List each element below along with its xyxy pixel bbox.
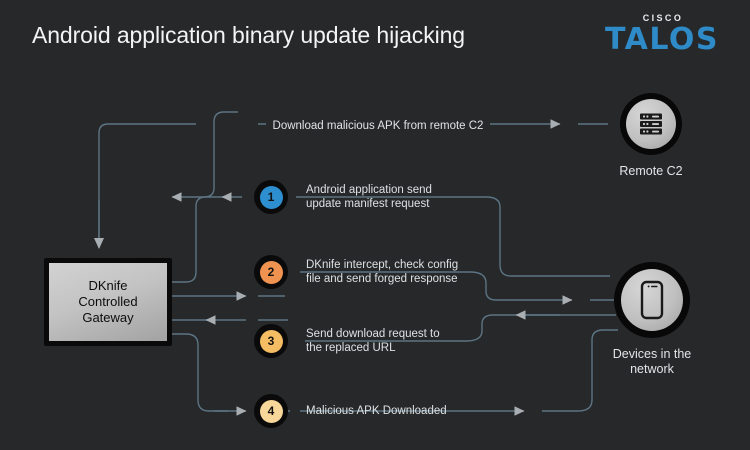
connector-lines — [0, 0, 750, 450]
step-number-1: 1 — [260, 186, 283, 209]
step-text-2: DKnife intercept, check config file and … — [306, 258, 458, 287]
diagram-canvas: Android application binary update hijack… — [0, 0, 750, 450]
step-number-2: 2 — [260, 261, 283, 284]
devices-ring — [614, 262, 690, 338]
remote-c2-face — [626, 99, 676, 149]
devices-node[interactable]: Devices in the network — [610, 262, 694, 377]
step-badge-3: 3 — [254, 324, 288, 358]
gateway-inner: DKnife Controlled Gateway — [49, 263, 167, 341]
server-icon — [636, 109, 666, 139]
remote-c2-node[interactable]: Remote C2 — [614, 93, 688, 179]
remote-c2-caption: Remote C2 — [614, 164, 688, 179]
step-text-1: Android application send update manifest… — [306, 183, 432, 212]
step-badge-4: 4 — [254, 394, 288, 428]
dknife-gateway-node[interactable]: DKnife Controlled Gateway — [44, 258, 172, 346]
remote-c2-ring — [620, 93, 682, 155]
step-number-3: 3 — [260, 330, 283, 353]
step-badge-1: 1 — [254, 180, 288, 214]
flow-step-3[interactable]: 3 Send download request to the replaced … — [254, 324, 440, 358]
flow-step-2[interactable]: 2 DKnife intercept, check config file an… — [254, 255, 458, 289]
step-number-4: 4 — [260, 400, 283, 423]
gateway-label: DKnife Controlled Gateway — [78, 278, 137, 326]
smartphone-icon — [639, 280, 665, 320]
step-text-4: Malicious APK Downloaded — [306, 404, 447, 419]
step-text-3: Send download request to the replaced UR… — [306, 327, 440, 356]
step-badge-2: 2 — [254, 255, 288, 289]
devices-face — [621, 269, 683, 331]
flow-step-4[interactable]: 4 Malicious APK Downloaded — [254, 394, 447, 428]
flow-step-1[interactable]: 1 Android application send update manife… — [254, 180, 432, 214]
devices-caption: Devices in the network — [610, 347, 694, 377]
top-flow-label: Download malicious APK from remote C2 — [198, 116, 558, 134]
